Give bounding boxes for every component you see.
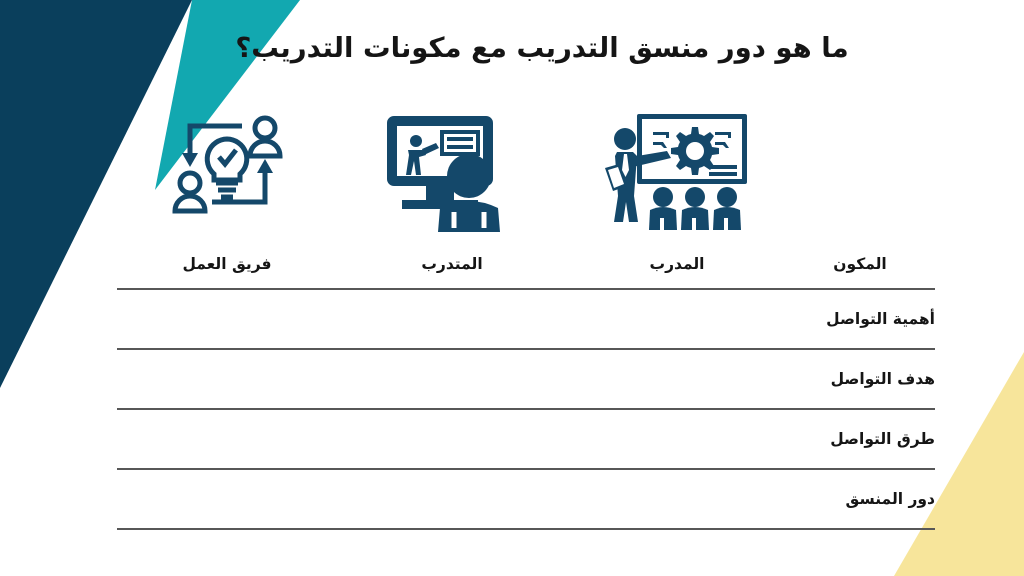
table-rule [117, 528, 935, 530]
trainer-presentation-icon [603, 108, 751, 232]
table-row: دور المنسق [117, 470, 935, 528]
row-label-communication-goal: هدف التواصل [755, 350, 935, 408]
trainee-monitor-icon [384, 108, 520, 232]
column-header-team: فريق العمل [117, 240, 337, 288]
row-blank-area[interactable] [117, 290, 747, 348]
icon-cell-team [117, 104, 337, 236]
table-header-row: المكون المدرب المتدرب فريق العمل [117, 240, 935, 288]
row-blank-area[interactable] [117, 470, 747, 528]
team-idea-cycle-icon [164, 109, 290, 231]
row-label-communication-importance: أهمية التواصل [755, 290, 935, 348]
slide-canvas: ما هو دور منسق التدريب مع مكونات التدريب… [0, 0, 1024, 576]
icon-cell-component [785, 104, 935, 236]
icon-cell-trainee [342, 104, 562, 236]
column-header-component: المكون [785, 240, 935, 288]
row-blank-area[interactable] [117, 350, 747, 408]
column-header-trainee: المتدرب [342, 240, 562, 288]
icon-row [117, 104, 935, 236]
table-row: طرق التواصل [117, 410, 935, 468]
table-row: هدف التواصل [117, 350, 935, 408]
table-row: أهمية التواصل [117, 290, 935, 348]
row-label-communication-methods: طرق التواصل [755, 410, 935, 468]
row-blank-area[interactable] [117, 410, 747, 468]
components-table: المكون المدرب المتدرب فريق العمل أهمية ا… [117, 240, 935, 530]
slide-title: ما هو دور منسق التدريب مع مكونات التدريب… [150, 22, 934, 74]
row-label-coordinator-role: دور المنسق [755, 470, 935, 528]
icon-cell-trainer [567, 104, 787, 236]
column-header-trainer: المدرب [567, 240, 787, 288]
